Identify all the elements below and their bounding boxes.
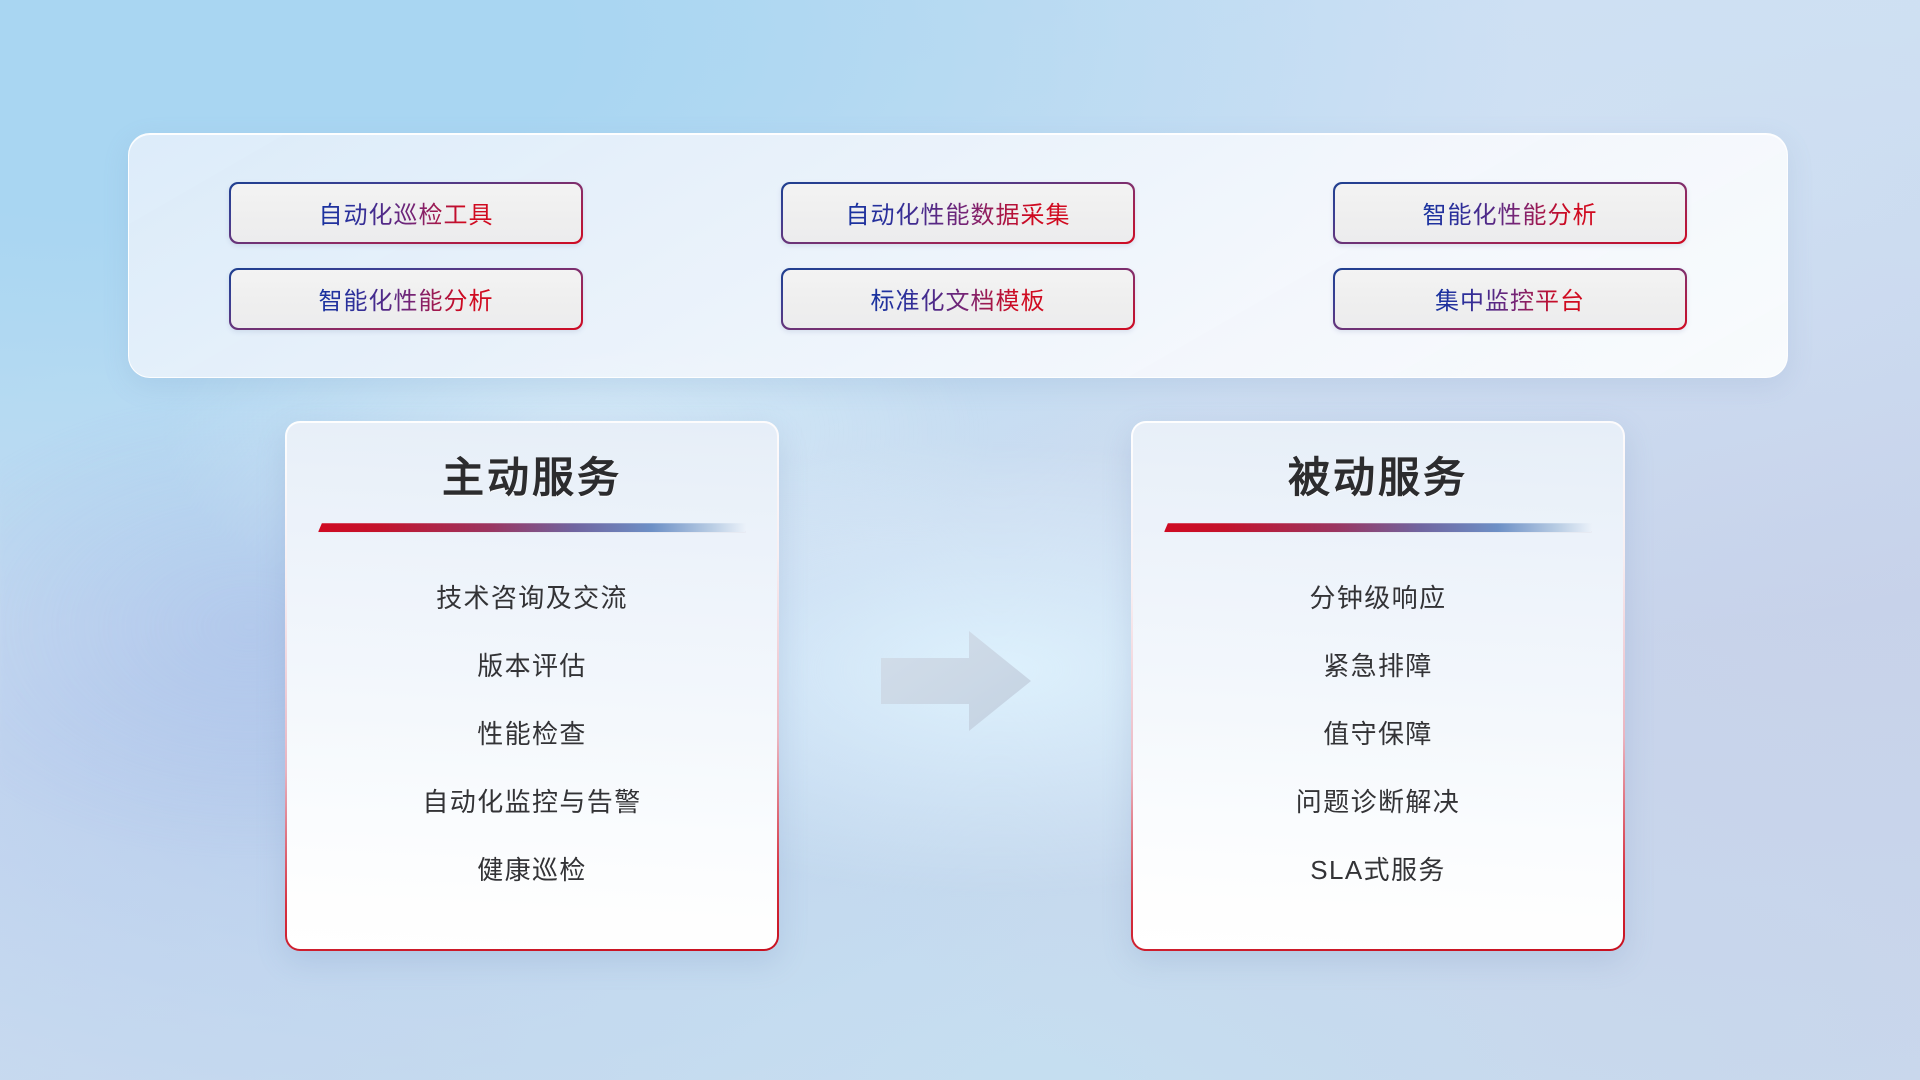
service-card-title: 主动服务 <box>442 455 622 501</box>
capability-pill-inner: 智能化性能分析 <box>1335 184 1685 242</box>
capability-pill[interactable]: 智能化性能分析 <box>229 268 583 330</box>
capability-pill[interactable]: 标准化文档模板 <box>781 268 1135 330</box>
capability-pill-label: 自动化巡检工具 <box>319 195 494 230</box>
capability-pill[interactable]: 自动化性能数据采集 <box>781 182 1135 244</box>
service-card-inner: 被动服务 分钟级响应 紧急排障 值守保障 问题诊断解决 SLA式服务 <box>1133 423 1623 949</box>
service-list-item: 问题诊断解决 <box>1296 768 1460 836</box>
title-divider <box>1164 523 1592 532</box>
service-list-item: 技术咨询及交流 <box>436 564 628 632</box>
title-divider <box>318 523 746 532</box>
service-list-item: SLA式服务 <box>1310 836 1446 904</box>
capability-pill-inner: 自动化性能数据采集 <box>783 184 1133 242</box>
service-list-item: 分钟级响应 <box>1309 564 1446 632</box>
service-list-item: 健康巡检 <box>477 836 587 904</box>
capability-pill-inner: 标准化文档模板 <box>783 270 1133 328</box>
capability-pill-inner: 自动化巡检工具 <box>231 184 581 242</box>
capability-pill-inner: 集中监控平台 <box>1335 270 1685 328</box>
capability-pill-grid: 自动化巡检工具 自动化性能数据采集 智能化性能分析 智能化性能分析 标准化文档模… <box>229 182 1687 330</box>
capability-pill[interactable]: 自动化巡检工具 <box>229 182 583 244</box>
service-card-reactive[interactable]: 被动服务 分钟级响应 紧急排障 值守保障 问题诊断解决 SLA式服务 <box>1131 421 1625 951</box>
service-list-item: 性能检查 <box>477 700 587 768</box>
capability-pill[interactable]: 集中监控平台 <box>1333 268 1687 330</box>
capability-pill[interactable]: 智能化性能分析 <box>1333 182 1687 244</box>
service-list-item: 版本评估 <box>477 632 587 700</box>
capability-pill-label: 智能化性能分析 <box>319 281 494 316</box>
arrow-right-icon <box>875 625 1037 737</box>
service-list-item: 值守保障 <box>1323 700 1433 768</box>
capability-pill-label: 标准化文档模板 <box>871 281 1046 316</box>
capability-pill-label: 集中监控平台 <box>1435 281 1585 316</box>
service-list-item: 自动化监控与告警 <box>422 768 641 836</box>
capability-pill-inner: 智能化性能分析 <box>231 270 581 328</box>
capability-pill-label: 智能化性能分析 <box>1423 195 1598 230</box>
service-card-proactive[interactable]: 主动服务 技术咨询及交流 版本评估 性能检查 自动化监控与告警 健康巡检 <box>285 421 779 951</box>
service-list-item: 紧急排障 <box>1323 632 1433 700</box>
capabilities-panel: 自动化巡检工具 自动化性能数据采集 智能化性能分析 智能化性能分析 标准化文档模… <box>128 133 1788 378</box>
capability-pill-label: 自动化性能数据采集 <box>846 195 1071 230</box>
service-card-title: 被动服务 <box>1288 455 1468 501</box>
service-card-inner: 主动服务 技术咨询及交流 版本评估 性能检查 自动化监控与告警 健康巡检 <box>287 423 777 949</box>
service-item-list: 分钟级响应 紧急排障 值守保障 问题诊断解决 SLA式服务 <box>1133 564 1623 904</box>
service-item-list: 技术咨询及交流 版本评估 性能检查 自动化监控与告警 健康巡检 <box>287 564 777 904</box>
